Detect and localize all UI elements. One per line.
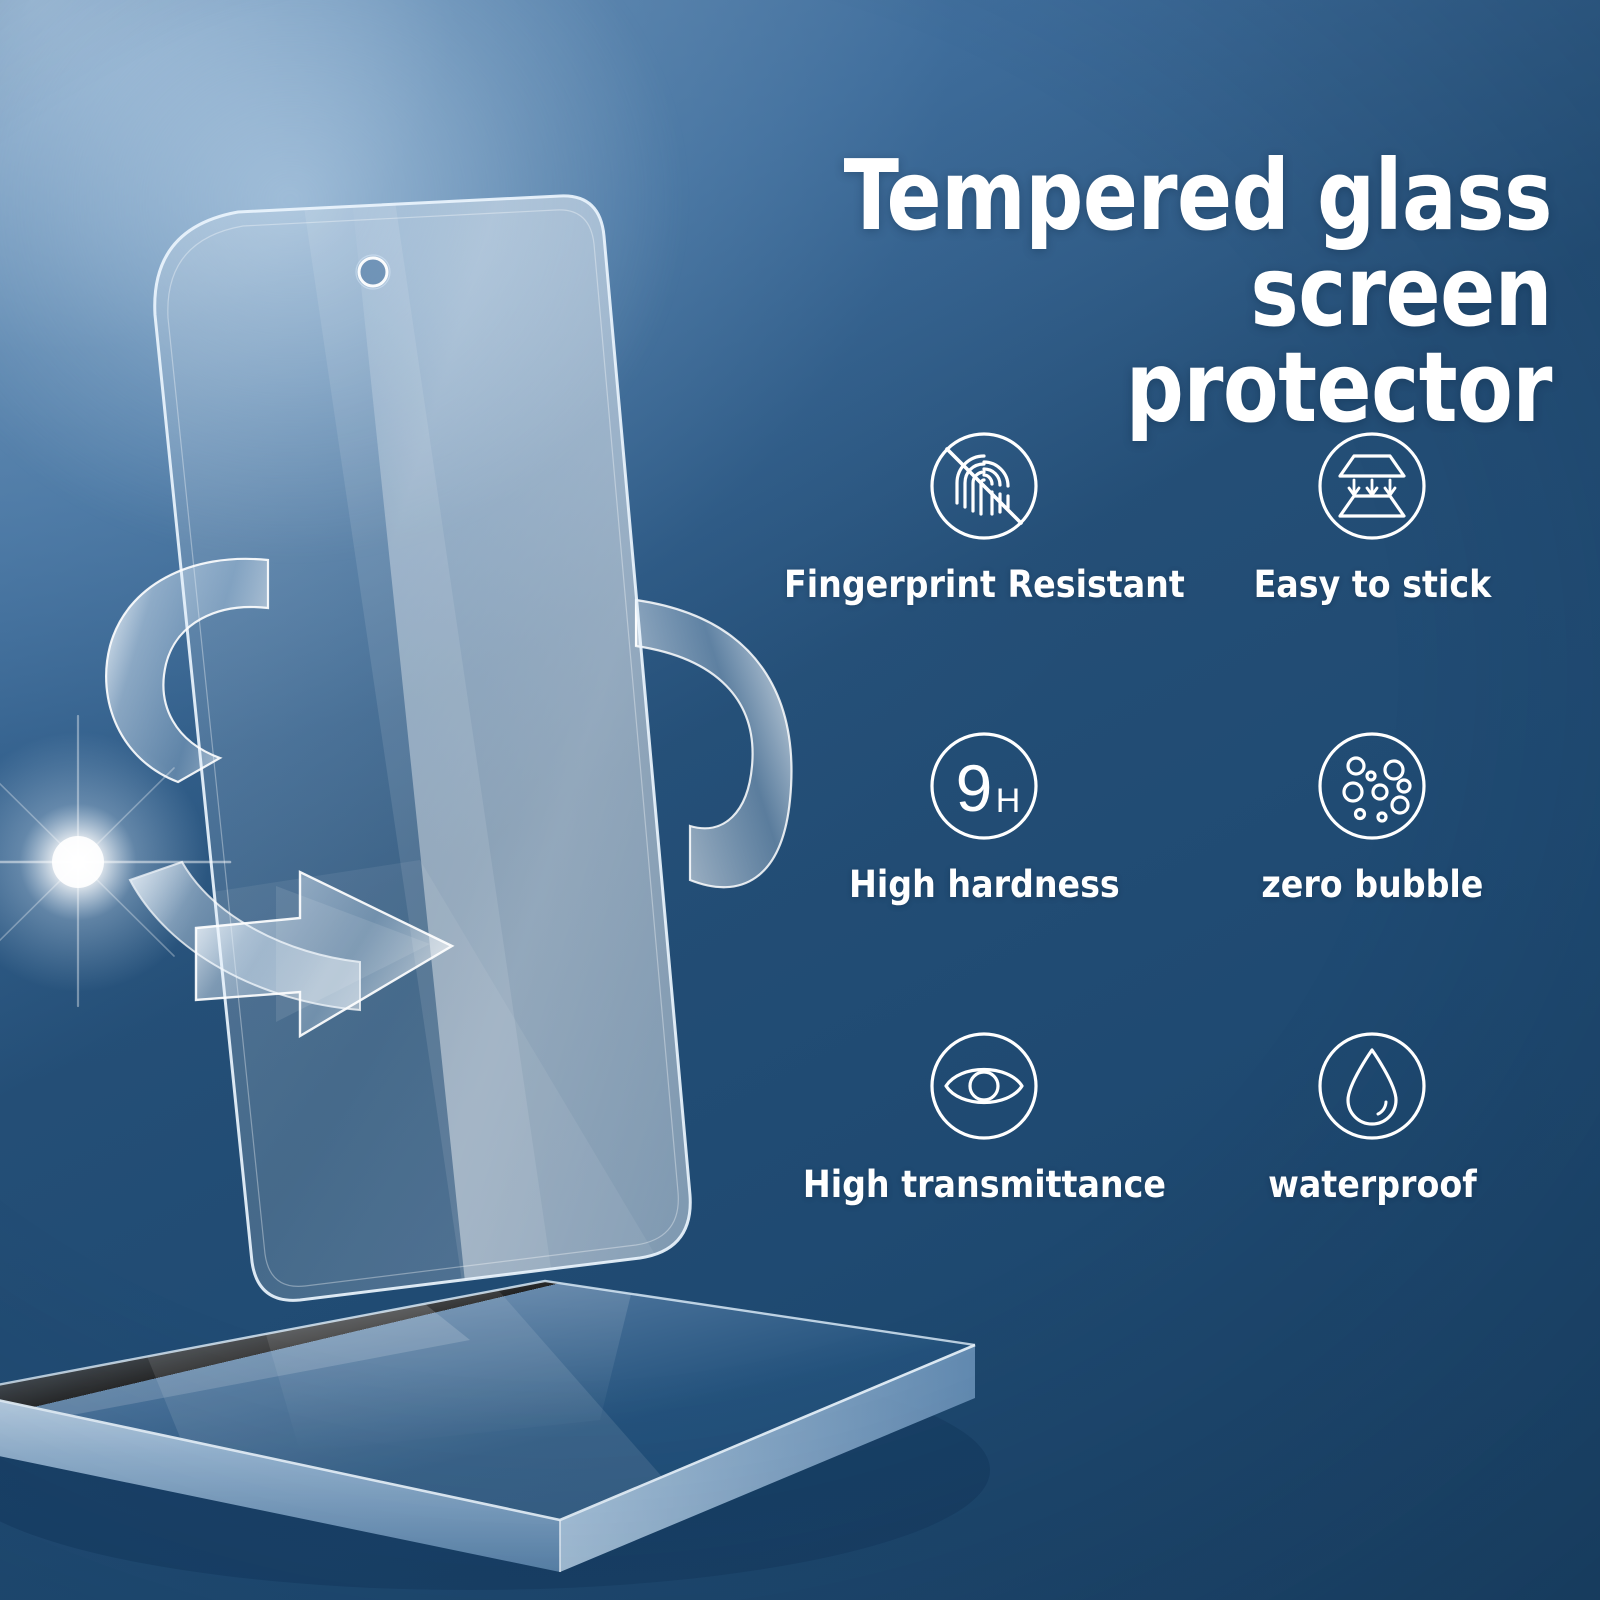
marketing-banner: Tempered glass screen protector — [0, 0, 1600, 1600]
easy-to-stick-icon — [1308, 422, 1436, 550]
feature-label: Fingerprint Resistant — [784, 566, 1185, 605]
hardness-unit: H — [996, 782, 1021, 820]
high-transmittance-icon — [920, 1022, 1048, 1150]
fingerprint-resistant-icon — [920, 422, 1048, 550]
feature-label: waterproof — [1268, 1166, 1477, 1205]
feature-item-zero-bubble: zero bubble — [1195, 708, 1550, 1008]
feature-item-high-transmittance: High transmittance — [784, 1008, 1185, 1308]
page-title: Tempered glass screen protector — [808, 148, 1552, 436]
waterproof-icon — [1308, 1022, 1436, 1150]
feature-grid: Fingerprint Resistant Easy to stick — [790, 408, 1550, 1308]
feature-label: Easy to stick — [1254, 566, 1492, 605]
feature-label: High hardness — [849, 866, 1120, 905]
feature-item-easy-to-stick: Easy to stick — [1195, 408, 1550, 708]
hardness-number: 9 — [956, 751, 993, 825]
zero-bubble-icon — [1308, 722, 1436, 850]
feature-item-waterproof: waterproof — [1195, 1008, 1550, 1308]
feature-label: High transmittance — [803, 1166, 1166, 1205]
feature-item-high-hardness: 9 H High hardness — [784, 708, 1185, 1008]
feature-label: zero bubble — [1261, 866, 1483, 905]
hardness-9h-icon: 9 H — [920, 722, 1048, 850]
feature-item-fingerprint-resistant: Fingerprint Resistant — [784, 408, 1185, 708]
